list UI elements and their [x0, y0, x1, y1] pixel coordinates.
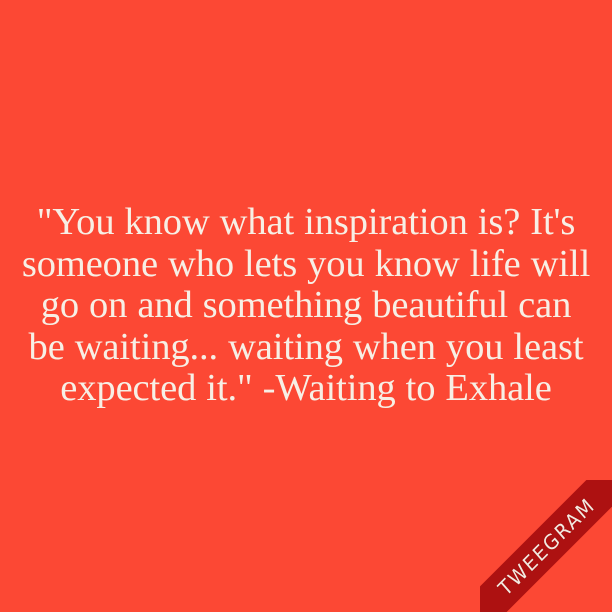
quote-line-4: be waiting... waiting when you least [18, 327, 594, 369]
watermark-label: TWEEGRAM [494, 493, 597, 598]
quote-line-5: expected it." -Waiting to Exhale [18, 368, 594, 410]
quote-line-2: someone who lets you know life will [18, 244, 594, 286]
quote-image-canvas: "You know what inspiration is? It's some… [0, 0, 612, 612]
quote-line-3: go on and something beautiful can [18, 285, 594, 327]
watermark-ribbon-band: TWEEGRAM [480, 480, 612, 612]
quote-text: "You know what inspiration is? It's some… [18, 202, 594, 410]
quote-line-1: "You know what inspiration is? It's [18, 202, 594, 244]
tweegram-watermark[interactable]: TWEEGRAM [480, 480, 612, 612]
